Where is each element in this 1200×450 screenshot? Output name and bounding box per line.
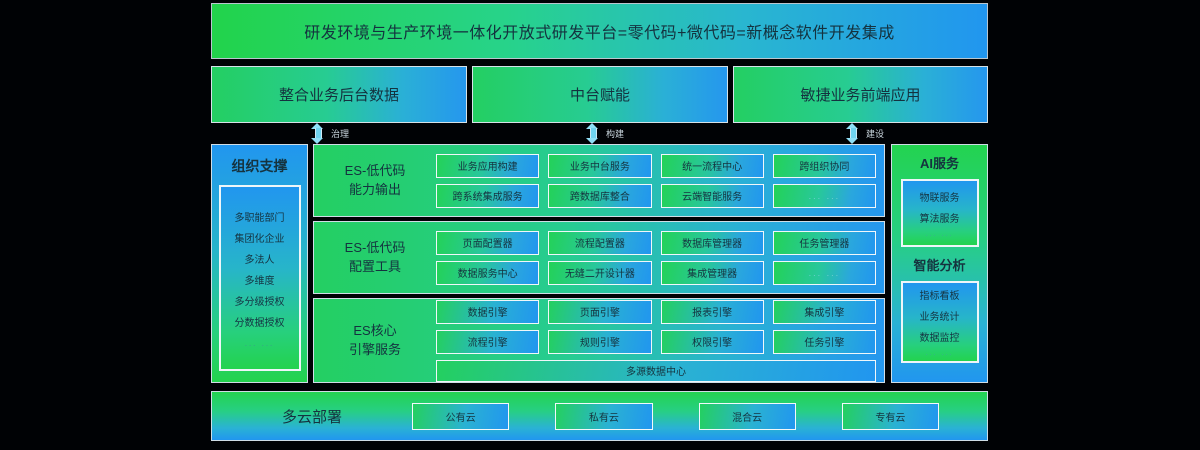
tier-label-line2: 引擎服务 <box>314 341 436 360</box>
tier-lowcode-config-tools: ES-低代码 配置工具 页面配置器 流程配置器 数据库管理器 任务管理器 数据服… <box>313 221 885 294</box>
capability-chip-ellipsis[interactable]: ... ... <box>773 184 876 208</box>
tool-chip[interactable]: 流程配置器 <box>548 231 651 255</box>
capability-chip[interactable]: 跨数据库整合 <box>548 184 651 208</box>
capability-chip[interactable]: 统一流程中心 <box>661 154 764 178</box>
tier-label: ES-低代码 能力输出 <box>314 162 436 200</box>
list-item: 物联服务 <box>920 189 960 204</box>
pillar-box-backend-data[interactable]: 整合业务后台数据 <box>211 66 467 123</box>
cloud-chip-hybrid[interactable]: 混合云 <box>699 403 796 430</box>
list-item: 多分级授权 <box>235 293 285 308</box>
pillar-label: 整合业务后台数据 <box>279 84 399 105</box>
tool-chip[interactable]: 页面配置器 <box>436 231 539 255</box>
ai-service-block: AI服务 物联服务 算法服务 ... ... <box>901 145 979 247</box>
engine-chip[interactable]: 报表引擎 <box>661 300 764 324</box>
ai-service-title: AI服务 <box>920 153 959 172</box>
pillar-box-midplatform[interactable]: 中台赋能 <box>472 66 728 123</box>
tool-chip[interactable]: 无缝二开设计器 <box>548 261 651 285</box>
ai-service-list: 物联服务 算法服务 ... ... <box>901 179 979 247</box>
capability-chip[interactable]: 业务中台服务 <box>548 154 651 178</box>
double-arrow-vertical-icon <box>586 123 599 144</box>
connector-buildout: 建设 <box>846 122 884 144</box>
engine-chip[interactable]: 数据引擎 <box>436 300 539 324</box>
capability-chip[interactable]: 跨组织协同 <box>773 154 876 178</box>
chip-row: 业务应用构建 业务中台服务 统一流程中心 跨组织协同 <box>436 154 876 178</box>
org-support-column: 组织支撑 多职能部门 集团化企业 多法人 多维度 多分级授权 分数据授权 ...… <box>211 144 308 383</box>
tier-label: ES核心 引擎服务 <box>314 322 436 360</box>
list-item: 多维度 <box>245 272 275 287</box>
tier-chip-grid: 业务应用构建 业务中台服务 统一流程中心 跨组织协同 跨系统集成服务 跨数据库整… <box>436 154 884 208</box>
tool-chip[interactable]: 任务管理器 <box>773 231 876 255</box>
chip-row: 页面配置器 流程配置器 数据库管理器 任务管理器 <box>436 231 876 255</box>
connector-construction: 构建 <box>586 122 624 144</box>
engine-chip[interactable]: 集成引擎 <box>773 300 876 324</box>
connector-label: 构建 <box>606 127 624 140</box>
org-support-title: 组织支撑 <box>232 156 288 176</box>
tier-label: ES-低代码 配置工具 <box>314 239 436 277</box>
tier-label-line2: 配置工具 <box>314 258 436 277</box>
connector-governance: 治理 <box>311 122 349 144</box>
list-item: 集团化企业 <box>235 230 285 245</box>
list-item: 多职能部门 <box>235 209 285 224</box>
double-arrow-vertical-icon <box>846 123 859 144</box>
list-item: 指标看板 <box>920 287 960 302</box>
list-ellipsis: ... ... <box>926 350 954 357</box>
double-arrow-vertical-icon <box>311 123 324 144</box>
list-item: 算法服务 <box>920 210 960 225</box>
engine-chip[interactable]: 流程引擎 <box>436 330 539 354</box>
list-item: 数据监控 <box>920 329 960 344</box>
engine-chip[interactable]: 任务引擎 <box>773 330 876 354</box>
pillar-label: 中台赋能 <box>570 84 630 105</box>
cloud-chip-dedicated[interactable]: 专有云 <box>842 403 939 430</box>
multicloud-deployment-bar: 多云部署 公有云 私有云 混合云 专有云 <box>211 391 988 441</box>
connector-label: 建设 <box>866 127 884 140</box>
tier-core-engine-services: ES核心 引擎服务 数据引擎 页面引擎 报表引擎 集成引擎 流程引擎 规则引擎 … <box>313 298 885 383</box>
cloud-chip-row: 公有云 私有云 混合云 专有云 <box>412 403 987 430</box>
capability-chip[interactable]: 跨系统集成服务 <box>436 184 539 208</box>
chip-row: 流程引擎 规则引擎 权限引擎 任务引擎 <box>436 330 876 354</box>
cloud-chip-public[interactable]: 公有云 <box>412 403 509 430</box>
tool-chip[interactable]: 数据服务中心 <box>436 261 539 285</box>
engine-chip[interactable]: 页面引擎 <box>548 300 651 324</box>
capability-chip[interactable]: 云端智能服务 <box>661 184 764 208</box>
chip-row: 数据服务中心 无缝二开设计器 集成管理器 ... ... <box>436 261 876 285</box>
chip-row: 跨系统集成服务 跨数据库整合 云端智能服务 ... ... <box>436 184 876 208</box>
list-ellipsis: ... ... <box>245 339 275 348</box>
smart-analysis-title: 智能分析 <box>913 255 965 274</box>
tier-chip-grid: 数据引擎 页面引擎 报表引擎 集成引擎 流程引擎 规则引擎 权限引擎 任务引擎 … <box>436 300 884 382</box>
multicloud-label: 多云部署 <box>212 406 412 427</box>
chip-row: 数据引擎 页面引擎 报表引擎 集成引擎 <box>436 300 876 324</box>
multi-source-data-center-bar[interactable]: 多源数据中心 <box>436 360 876 382</box>
engine-chip[interactable]: 规则引擎 <box>548 330 651 354</box>
tier-chip-grid: 页面配置器 流程配置器 数据库管理器 任务管理器 数据服务中心 无缝二开设计器 … <box>436 231 884 285</box>
list-item: 业务统计 <box>920 308 960 323</box>
platform-banner: 研发环境与生产环境一体化开放式研发平台=零代码+微代码=新概念软件开发集成 <box>211 3 988 59</box>
org-support-list: 多职能部门 集团化企业 多法人 多维度 多分级授权 分数据授权 ... ... <box>219 185 301 371</box>
tier-label-line2: 能力输出 <box>314 181 436 200</box>
diagram-canvas: 研发环境与生产环境一体化开放式研发平台=零代码+微代码=新概念软件开发集成 整合… <box>0 0 1200 450</box>
list-item: 多法人 <box>245 251 275 266</box>
tool-chip[interactable]: 集成管理器 <box>661 261 764 285</box>
smart-analysis-list: 指标看板 业务统计 数据监控 ... ... <box>901 281 979 363</box>
ai-analytics-column: AI服务 物联服务 算法服务 ... ... 智能分析 指标看板 业务统计 数据… <box>891 144 988 383</box>
tier-lowcode-capability: ES-低代码 能力输出 业务应用构建 业务中台服务 统一流程中心 跨组织协同 跨… <box>313 144 885 217</box>
tool-chip[interactable]: 数据库管理器 <box>661 231 764 255</box>
platform-banner-title: 研发环境与生产环境一体化开放式研发平台=零代码+微代码=新概念软件开发集成 <box>304 19 895 43</box>
capability-chip[interactable]: 业务应用构建 <box>436 154 539 178</box>
list-ellipsis: ... ... <box>926 231 954 238</box>
pillar-box-frontend-apps[interactable]: 敏捷业务前端应用 <box>733 66 988 123</box>
tier-label-line1: ES-低代码 <box>314 239 436 258</box>
cloud-chip-private[interactable]: 私有云 <box>555 403 652 430</box>
tier-label-line1: ES核心 <box>314 322 436 341</box>
pillar-label: 敏捷业务前端应用 <box>800 84 920 105</box>
smart-analysis-block: 智能分析 指标看板 业务统计 数据监控 ... ... <box>901 247 979 363</box>
connector-label: 治理 <box>331 127 349 140</box>
tier-label-line1: ES-低代码 <box>314 162 436 181</box>
list-item: 分数据授权 <box>235 314 285 329</box>
engine-chip[interactable]: 权限引擎 <box>661 330 764 354</box>
tool-chip-ellipsis[interactable]: ... ... <box>773 261 876 285</box>
